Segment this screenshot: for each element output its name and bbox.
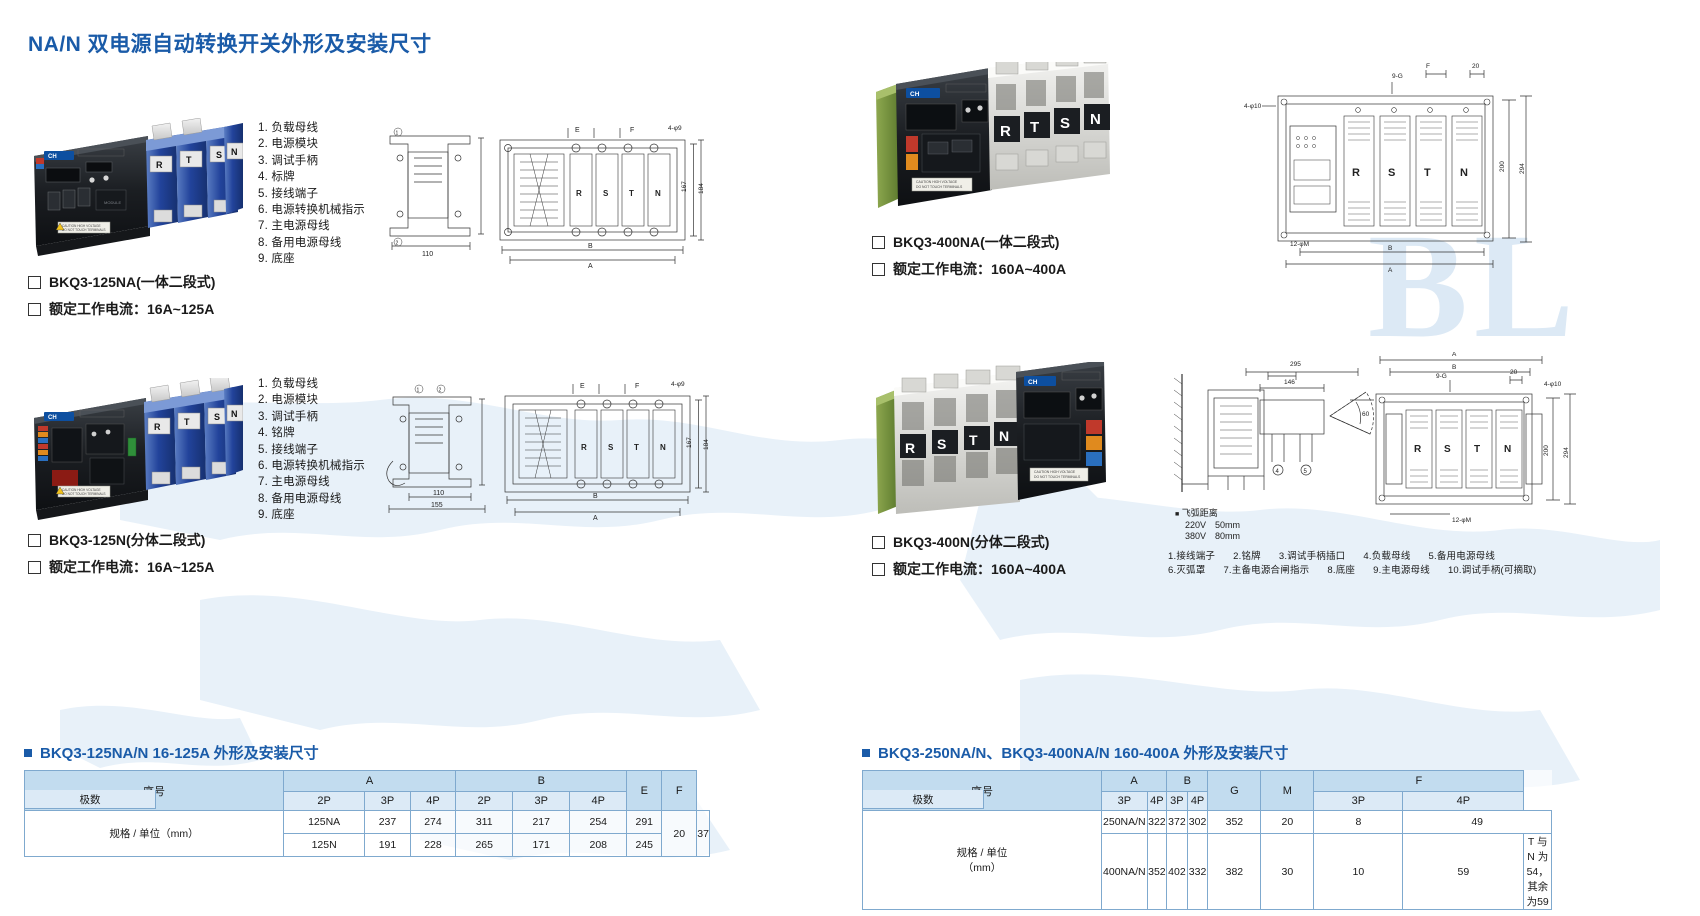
legend-item: 2. 电源模块 (258, 392, 365, 408)
dimension-label-12M: 12-φM (1290, 241, 1309, 248)
legend-item: 8.底座 (1327, 564, 1355, 578)
cell-model-name: 250NA/N (1102, 811, 1148, 834)
svg-text:5: 5 (1304, 469, 1308, 475)
arc-distance-note: ■ 飞弧距离 220V 50mm 380V 80mm (1175, 508, 1305, 542)
svg-text:T: T (1424, 167, 1431, 179)
cell-B-4P: 382 (1208, 834, 1261, 910)
svg-text:2: 2 (396, 241, 399, 247)
th-B: B (1167, 771, 1208, 792)
cell-A-4P: 311 (456, 811, 513, 834)
cell-A-3P: 274 (410, 811, 455, 834)
svg-text:S: S (937, 436, 946, 452)
dimension-label-A: A (1388, 267, 1393, 274)
cell-B-4P: 245 (627, 834, 662, 857)
th-poles-B-2P: 2P (456, 792, 513, 811)
svg-text:2: 2 (439, 388, 442, 394)
legend-item: 4. 铭牌 (258, 425, 365, 441)
legend-item: 3. 调试手柄 (258, 153, 365, 169)
section-heading-table-400: BKQ3-250NA/N、BKQ3-400NA/N 160-400A 外形及安装… (862, 742, 1288, 763)
legend-item: 4.负载母线 (1363, 550, 1410, 564)
cell-B-3P: 208 (570, 834, 627, 857)
svg-text:N: N (999, 428, 1009, 444)
svg-text:S: S (214, 412, 220, 422)
dimension-167: 167 (681, 181, 688, 192)
svg-text:CH: CH (1028, 379, 1038, 386)
legend-item: 6. 电源转换机械指示 (258, 458, 365, 474)
cell-G: 30 (1261, 834, 1314, 910)
legend-item: 8. 备用电源母线 (258, 235, 365, 251)
dimension-146: 146 (1284, 379, 1295, 386)
checkbox-icon[interactable] (28, 276, 41, 289)
dimension-294: 294 (1519, 163, 1526, 174)
table-header-row: 序号 A B G M F (863, 771, 1552, 792)
dimension-label-holes: 4-φ9 (671, 381, 685, 388)
caption-text: 额定工作电流：160A~400A (893, 559, 1066, 579)
th-poles-A-4P: 4P (1147, 792, 1166, 811)
dimension-label-holes: 4-φ10 (1544, 381, 1562, 388)
legend-item: 9. 底座 (258, 251, 365, 267)
dimension-label-9G: 9-G (1436, 373, 1447, 380)
arc-note-row: 380V 80mm (1185, 531, 1305, 542)
drawing-bkq3-125na-side: 110 1 2 (378, 118, 498, 263)
dimension-110: 110 (433, 490, 444, 497)
bullet-icon (862, 749, 870, 757)
legend-item: 1.接线端子 (1168, 550, 1215, 564)
dimension-label-F: F (635, 383, 639, 390)
cell-M: 8 (1314, 811, 1403, 834)
legend-item: 5. 接线端子 (258, 442, 365, 458)
cell-E: 20 (662, 811, 697, 857)
dimension-label-12M: 12-φM (1452, 517, 1471, 524)
legend-bkq3-125n: 1. 负载母线 2. 电源模块 3. 调试手柄 4. 铭牌 5. 接线端子 6.… (258, 376, 365, 524)
legend-item: 3. 调试手柄 (258, 409, 365, 425)
dimension-label-A: A (1452, 352, 1457, 358)
product-photo-bkq3-125na: MODULE CAUTION HIGH VOLTAGE DO NOT TOUCH… (28, 118, 243, 263)
th-F: F (1314, 771, 1524, 792)
row-label-spec-line1: 规格 / 单位 (863, 845, 1101, 860)
dimension-184: 184 (703, 439, 710, 450)
caption-row: 额定工作电流：160A~400A (872, 259, 1066, 279)
captions-bkq3-125na: BKQ3-125NA(一体二段式) 额定工作电流：16A~125A (28, 272, 215, 326)
th-F: F (662, 771, 697, 811)
svg-text:DO NOT TOUCH TERMINALS: DO NOT TOUCH TERMINALS (916, 185, 963, 189)
legend-bkq3-400n: 1.接线端子 2.铭牌 3.调试手柄插口 4.负载母线 5.备用电源母线 6.灭… (1168, 550, 1536, 578)
th-poles-A-4P: 4P (410, 792, 455, 811)
svg-text:DO NOT TOUCH TERMINALS: DO NOT TOUCH TERMINALS (1034, 475, 1081, 479)
caption-text: BKQ3-400NA(一体二段式) (893, 232, 1059, 252)
svg-text:N: N (1090, 111, 1101, 128)
svg-text:R: R (581, 443, 587, 452)
checkbox-icon[interactable] (872, 263, 885, 276)
svg-text:N: N (660, 443, 666, 452)
cell-A-2P: 237 (365, 811, 410, 834)
legend-item: 6.灭弧罩 (1168, 564, 1205, 578)
th-poles-F-4P: 4P (1403, 792, 1524, 811)
phase-label: R (905, 440, 915, 456)
cell-F-merged: 49 (1403, 811, 1552, 834)
cell-model-name: 125NA (284, 811, 365, 834)
caption-row: BKQ3-125NA(一体二段式) (28, 272, 215, 292)
caption-row: BKQ3-400N(分体二段式) (872, 532, 1066, 552)
legend-item: 5.备用电源母线 (1429, 550, 1496, 564)
caption-row: 额定工作电流：16A~125A (28, 299, 215, 319)
th-poles-label-right: 极数 (862, 790, 984, 809)
cell-A-3P: 228 (410, 834, 455, 857)
dimension-label-holes: 4-φ9 (668, 125, 682, 132)
checkbox-icon[interactable] (872, 236, 885, 249)
svg-text:1: 1 (396, 131, 399, 137)
cell-F-3P: 59 (1403, 834, 1524, 910)
svg-text:R: R (1352, 167, 1360, 179)
caption-text: BKQ3-125N(分体二段式) (49, 530, 205, 550)
svg-text:N: N (231, 147, 238, 157)
legend-item: 7. 主电源母线 (258, 474, 365, 490)
row-label-spec: 规格 / 单位（mm） (25, 811, 284, 857)
legend-item: 9.主电源母线 (1373, 564, 1430, 578)
dimension-155: 155 (431, 502, 443, 509)
dimension-label-E: E (580, 383, 585, 390)
dimension-200: 200 (1543, 445, 1550, 456)
table-header-row: 序号 A B E F (25, 771, 710, 792)
cell-A-4P: 265 (456, 834, 513, 857)
legend-item: 4. 标牌 (258, 169, 365, 185)
legend-item: 7.主备电源合闸指示 (1223, 564, 1309, 578)
section-heading-table-125: BKQ3-125NA/N 16-125A 外形及安装尺寸 (24, 742, 319, 763)
cell-B-2P: 217 (513, 811, 570, 834)
cell-B-4P: 352 (1208, 811, 1261, 834)
svg-text:MODULE: MODULE (104, 200, 121, 205)
svg-text:R: R (154, 422, 161, 432)
page-title: NA/N 双电源自动转换开关外形及安装尺寸 (28, 28, 432, 58)
caption-row: BKQ3-400NA(一体二段式) (872, 232, 1066, 252)
svg-text:CH: CH (910, 91, 920, 98)
legend-item: 7. 主电源母线 (258, 218, 365, 234)
cell-B-4P: 291 (627, 811, 662, 834)
drawing-bkq3-125n-front: E F 4-φ9 B A 167 184 R S T N (495, 372, 710, 522)
product-photo-bkq3-125n: CH CAUTION HIGH VOLTAGE DO NOT TOUCH TER… (28, 378, 243, 528)
caption-text: BKQ3-400N(分体二段式) (893, 532, 1049, 552)
checkbox-icon[interactable] (28, 303, 41, 316)
th-E: E (627, 771, 662, 811)
dimension-294: 294 (1563, 447, 1570, 458)
drawing-bkq3-400na: F 20 9-G 4-φ10 12-φM B A 200 294 R S T N (1240, 60, 1540, 275)
phase-label: R (1000, 123, 1011, 140)
svg-text:N: N (655, 189, 661, 198)
th-poles-A-2P: 2P (284, 792, 365, 811)
checkbox-icon[interactable] (872, 563, 885, 576)
svg-text:N: N (1504, 444, 1511, 455)
th-poles-B-4P: 4P (570, 792, 627, 811)
drawing-bkq3-125na-front: E F 4-φ9 B A 167 184 R S T N (490, 118, 705, 268)
cell-B-3P: 332 (1187, 834, 1208, 910)
legend-bkq3-125na: 1. 负载母线 2. 电源模块 3. 调试手柄 4. 标牌 5. 接线端子 6.… (258, 120, 365, 268)
svg-text:S: S (603, 189, 609, 198)
cell-F: 37 (697, 811, 710, 857)
cell-model-name: 125N (284, 834, 365, 857)
checkbox-icon[interactable] (28, 561, 41, 574)
th-A: A (1102, 771, 1167, 792)
svg-text:CH: CH (48, 154, 57, 160)
caption-row: BKQ3-125N(分体二段式) (28, 530, 214, 550)
svg-text:T: T (629, 189, 634, 198)
dimension-label-B: B (1388, 245, 1392, 252)
th-B: B (456, 771, 627, 792)
table-125: 序号 A B E F 2P 3P 4P 2P 3P 4P 规格 / 单位（mm）… (24, 770, 710, 857)
svg-text:CAUTION HIGH VOLTAGE: CAUTION HIGH VOLTAGE (1034, 470, 1076, 474)
dimension-label-B: B (1452, 364, 1456, 371)
cell-A-4P: 402 (1167, 834, 1188, 910)
th-poles-B-3P: 3P (513, 792, 570, 811)
th-G: G (1208, 771, 1261, 811)
th-poles-A-3P: 3P (1102, 792, 1148, 811)
table-row: 规格 / 单位（mm） 125NA 237 274 311 217 254 29… (25, 811, 710, 834)
dimension-20: 20 (1472, 63, 1480, 70)
drawing-bkq3-400n-front: A B 9-G 20 4-φ10 12-φM 200 294 R S T N (1330, 352, 1580, 532)
th-poles-A-3P: 3P (365, 792, 410, 811)
cell-M: 10 (1314, 834, 1403, 910)
cell-A-2P: 191 (365, 834, 410, 857)
dimension-20: 20 (1510, 369, 1518, 376)
checkbox-icon[interactable] (872, 536, 885, 549)
th-A: A (284, 771, 456, 792)
captions-bkq3-400n: BKQ3-400N(分体二段式) 额定工作电流：160A~400A (872, 532, 1066, 586)
svg-text:DO NOT TOUCH TERMINALS: DO NOT TOUCH TERMINALS (62, 228, 106, 232)
legend-item: 1. 负载母线 (258, 376, 365, 392)
row-label-spec-line2: （mm） (863, 860, 1101, 875)
legend-item: 1. 负载母线 (258, 120, 365, 136)
svg-text:S: S (1388, 167, 1395, 179)
checkbox-icon[interactable] (28, 534, 41, 547)
dimension-167: 167 (686, 437, 693, 448)
drawing-bkq3-125n-side: 110 155 1 2 (375, 375, 505, 520)
svg-text:N: N (231, 409, 238, 419)
legend-item: 8. 备用电源母线 (258, 491, 365, 507)
dimension-label-A: A (588, 263, 593, 268)
dimension-184: 184 (698, 183, 705, 194)
legend-item: 2.铭牌 (1233, 550, 1261, 564)
cell-model-name: 400NA/N (1102, 834, 1148, 910)
dimension-label-9G: 9-G (1392, 73, 1403, 80)
svg-text:S: S (216, 150, 222, 160)
arc-note-row: 220V 50mm (1185, 520, 1305, 531)
bullet-icon (24, 749, 32, 757)
svg-text:S: S (608, 443, 614, 452)
svg-text:DO NOT TOUCH TERMINALS: DO NOT TOUCH TERMINALS (62, 492, 106, 496)
svg-text:CH: CH (48, 415, 57, 421)
cell-A-3P: 352 (1147, 834, 1166, 910)
svg-text:CAUTION HIGH VOLTAGE: CAUTION HIGH VOLTAGE (916, 180, 958, 184)
dimension-label-B: B (588, 243, 593, 250)
legend-item: 10.调试手柄(可摘取) (1448, 564, 1536, 578)
svg-text:T: T (969, 432, 978, 448)
cell-A-4P: 372 (1167, 811, 1188, 834)
legend-item: 9. 底座 (258, 507, 365, 523)
th-poles-B-4P: 4P (1187, 792, 1208, 811)
captions-bkq3-400na: BKQ3-400NA(一体二段式) 额定工作电流：160A~400A (872, 232, 1066, 286)
svg-text:R: R (1414, 444, 1422, 455)
cell-B-3P: 302 (1187, 811, 1208, 834)
product-photo-bkq3-400na: CH CAUTION HIGH VOLTAGE DO NOT TOUCH TER… (872, 62, 1112, 227)
captions-bkq3-125n: BKQ3-125N(分体二段式) 额定工作电流：16A~125A (28, 530, 214, 584)
arc-note-title: ■ 飞弧距离 (1175, 508, 1305, 520)
svg-text:1: 1 (417, 388, 420, 394)
dimension-label: 110 (422, 251, 433, 258)
product-photo-bkq3-400n: R S T N CH CAUTION HIGH VOLTAGE DO NOT T… (872, 362, 1112, 527)
caption-text: 额定工作电流：160A~400A (893, 259, 1066, 279)
legend-item: 2. 电源模块 (258, 136, 365, 152)
svg-text:S: S (1444, 444, 1451, 455)
caption-text: 额定工作电流：16A~125A (49, 299, 214, 319)
dimension-295: 295 (1290, 361, 1301, 368)
th-poles-label-left: 极数 (24, 790, 156, 809)
dimension-200: 200 (1499, 161, 1506, 172)
th-poles-F-3P: 3P (1314, 792, 1403, 811)
phase-label: R (156, 160, 163, 170)
legend-item: 3.调试手柄插口 (1279, 550, 1346, 564)
cell-B-2P: 171 (513, 834, 570, 857)
caption-text: BKQ3-125NA(一体二段式) (49, 272, 215, 292)
svg-text:T: T (1474, 444, 1480, 455)
legend-item: 6. 电源转换机械指示 (258, 202, 365, 218)
dimension-label-E: E (575, 127, 580, 134)
legend-item: 5. 接线端子 (258, 186, 365, 202)
svg-text:N: N (1460, 167, 1468, 179)
cell-F-4P: T 与 N 为54，其余为59 (1524, 834, 1552, 910)
caption-row: 额定工作电流：16A~125A (28, 557, 214, 577)
svg-text:T: T (184, 417, 190, 427)
cell-A-3P: 322 (1147, 811, 1166, 834)
svg-text:T: T (634, 443, 639, 452)
svg-text:4: 4 (1276, 469, 1280, 475)
caption-row: 额定工作电流：160A~400A (872, 559, 1066, 579)
cell-G: 20 (1261, 811, 1314, 834)
th-M: M (1261, 771, 1314, 811)
svg-text:S: S (1060, 115, 1070, 132)
th-poles-B-3P: 3P (1167, 792, 1188, 811)
dimension-label-B: B (593, 493, 598, 500)
dimension-label-F: F (630, 127, 634, 134)
cell-B-3P: 254 (570, 811, 627, 834)
svg-text:R: R (576, 189, 582, 198)
dimension-label-F: F (1426, 63, 1430, 70)
table-row: 规格 / 单位 （mm） 250NA/N 322 372 302 352 20 … (863, 811, 1552, 834)
dimension-label-holes: 4-φ10 (1244, 103, 1262, 110)
svg-text:T: T (1030, 119, 1039, 136)
caption-text: 额定工作电流：16A~125A (49, 557, 214, 577)
svg-text:T: T (186, 155, 192, 165)
dimension-label-A: A (593, 515, 598, 522)
